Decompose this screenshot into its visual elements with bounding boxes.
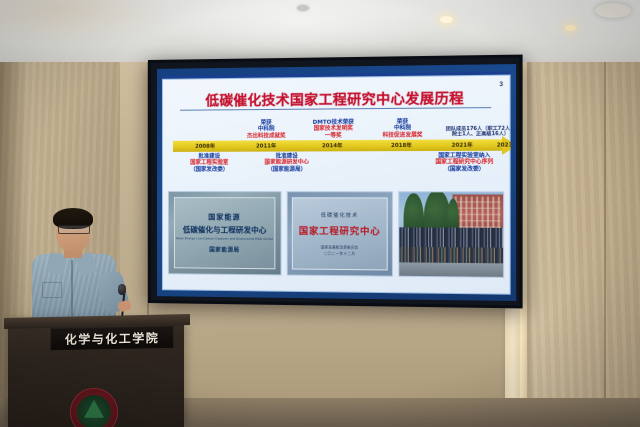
plaque-main-line: 国家工程研究中心	[299, 223, 381, 237]
timeline-year: 2014年	[322, 142, 342, 149]
milestone-line: 一等奖	[313, 132, 354, 139]
shirt-pocket	[42, 282, 62, 298]
presentation-slide: 3 低碳催化技术国家工程研究中心发展历程 2008年 2011年 2014年 2…	[162, 71, 511, 294]
timeline-milestone: 国家工程实验室纳入 国家工程研究中心序列 （国家发改委）	[435, 153, 493, 173]
timeline-milestone: 荣获 中科院 科技促进发展奖	[383, 119, 423, 139]
timeline-milestone: 批准建设 国家能源研发中心 （国家能源局）	[265, 153, 309, 173]
emblem-tree-icon	[84, 400, 104, 418]
group-photo-background	[399, 192, 503, 277]
ceiling-downlight-icon	[297, 5, 309, 11]
timeline-year: 2011年	[256, 142, 276, 149]
milestone-line: 国家工程研究中心序列	[435, 160, 493, 167]
timeline-milestone: 荣获 中科院 杰出科技成就奖	[247, 120, 286, 140]
milestone-line: 国家能源研发中心	[265, 160, 309, 167]
ceiling-downlight-icon	[440, 16, 453, 23]
podium-nameplate-text: 化学与化工学院	[65, 329, 160, 348]
plaque-photo-research-center: 低碳催化技术 国家工程研究中心 国家发展和改革委员会 二〇二一年十二月	[287, 191, 393, 277]
microphone-icon	[118, 284, 126, 295]
milestone-line: 院士1人、正高级16人）	[446, 132, 511, 138]
milestone-line: （国家发改委）	[190, 167, 228, 173]
milestone-line: 国家工程实验室	[190, 160, 228, 167]
lecture-hall-scene: 3 低碳催化技术国家工程研究中心发展历程 2008年 2011年 2014年 2…	[0, 0, 640, 427]
led-display[interactable]: 3 低碳催化技术国家工程研究中心发展历程 2008年 2011年 2014年 2…	[148, 55, 523, 309]
plaque-top-line: 低碳催化技术	[321, 211, 359, 218]
ceiling-downlight-icon	[565, 25, 576, 31]
display-panel: 3 低碳催化技术国家工程研究中心发展历程 2008年 2011年 2014年 2…	[157, 64, 516, 301]
slide-photo-row: 国家能源 低碳催化与工程研发中心 State Energy Low-Carbon…	[168, 191, 504, 278]
podium-nameplate: 化学与化工学院	[50, 326, 174, 351]
plaque-english-line: State Energy Low-Carbon Catalysis and En…	[176, 236, 273, 241]
glasses-icon	[58, 225, 90, 234]
timeline-year: 2008年	[195, 142, 215, 149]
plaque-line-2: 低碳催化与工程研发中心	[183, 224, 267, 236]
plaque-issuer: 国家发展和改革委员会	[321, 244, 358, 249]
plaque-board: 低碳催化技术 国家工程研究中心 国家发展和改革委员会 二〇二一年十二月	[292, 197, 388, 270]
plaque-issuer: 国家能源局	[209, 245, 239, 253]
ceiling	[0, 0, 640, 62]
plaque-line-1: 国家能源	[208, 212, 240, 222]
wall-seam-right	[604, 8, 606, 427]
timeline-year: 2021年	[452, 141, 473, 148]
photo-ground	[399, 262, 503, 277]
milestone-line: 杰出科技成就奖	[247, 133, 286, 140]
slide-title: 低碳催化技术国家工程研究中心发展历程	[162, 86, 511, 110]
milestone-line: 国家技术发明奖	[313, 126, 354, 133]
milestone-line: （国家发改委）	[435, 166, 493, 173]
timeline-milestone: 批准建设 国家工程实验室 （国家发改委）	[190, 154, 228, 173]
plaque-board: 国家能源 低碳催化与工程研发中心 State Energy Low-Carbon…	[174, 197, 275, 269]
speaker-hand	[117, 299, 132, 312]
timeline-milestone: DMTO技术荣获 国家技术发明奖 一等奖	[313, 119, 354, 139]
plaque-photo-energy-center: 国家能源 低碳催化与工程研发中心 State Energy Low-Carbon…	[168, 191, 282, 275]
timeline-year: 2023年	[497, 141, 511, 148]
milestone-line: （国家能源局）	[265, 166, 309, 173]
plaque-date: 二〇二一年十二月	[324, 251, 356, 256]
people-group	[399, 227, 503, 263]
timeline: 2008年 2011年 2014年 2018年 2021年 2023年 荣获 中…	[167, 111, 505, 174]
milestone-line: 科技促进发展奖	[383, 132, 423, 139]
timeline-year: 2018年	[391, 141, 412, 148]
timeline-milestone: 团队成员176人（职工72人， 院士1人、正高级16人）	[446, 126, 511, 138]
team-group-photo	[398, 191, 504, 278]
shirt-placket	[71, 260, 73, 316]
ceiling-speaker-icon	[595, 3, 631, 18]
